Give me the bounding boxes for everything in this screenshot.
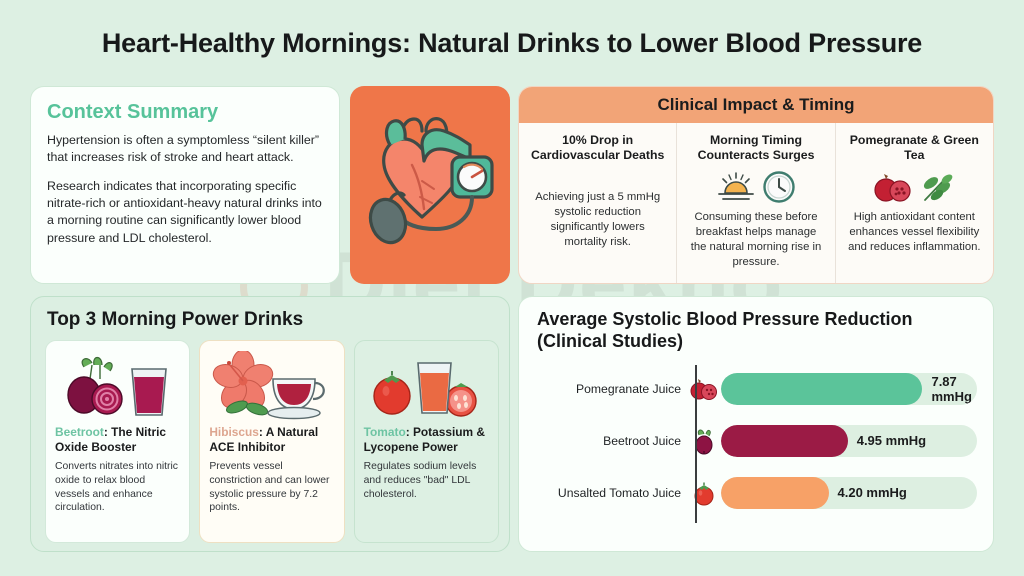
chart-bar-fill bbox=[721, 425, 848, 457]
clinical-impact-panel: Clinical Impact & Timing 10% Drop in Car… bbox=[518, 86, 994, 284]
drink-card-image bbox=[55, 349, 180, 423]
tomato-and-juice-glass-icon bbox=[365, 351, 487, 421]
context-paragraph-2: Research indicates that incorporating sp… bbox=[47, 178, 323, 246]
top-drinks-panel: Top 3 Morning Power Drinks bbox=[30, 296, 510, 552]
chart-title: Average Systolic Blood Pressure Reductio… bbox=[537, 309, 977, 353]
clinical-column-heading: Pomegranate & Green Tea bbox=[845, 133, 984, 164]
chart-category-label: Unsalted Tomato Juice bbox=[537, 486, 687, 501]
heart-illustration-card bbox=[350, 86, 510, 284]
drink-card-image bbox=[209, 349, 334, 423]
hibiscus-flower-and-teacup-icon bbox=[211, 351, 333, 421]
chart-category-label: Pomegranate Juice bbox=[537, 382, 687, 397]
chart-plot-area: Pomegranate Juice 7.87 mmHg Beetr bbox=[537, 359, 977, 539]
drink-card-body: Prevents vessel constriction and can low… bbox=[209, 460, 334, 515]
clinical-column-body: Consuming these before breakfast helps m… bbox=[686, 210, 825, 271]
chart-y-axis bbox=[695, 365, 697, 523]
drink-card-heading: Beetroot: The Nitric Oxide Booster bbox=[55, 425, 180, 455]
chart-bar-value: 7.87 mmHg bbox=[922, 373, 977, 405]
chart-bar-row: Unsalted Tomato Juice 4.20 mmHg bbox=[537, 467, 977, 519]
chart-category-icon bbox=[687, 376, 721, 402]
drink-card-beetroot[interactable]: Beetroot: The Nitric Oxide Booster Conve… bbox=[45, 340, 190, 543]
clinical-column-heading: Morning Timing Counteracts Surges bbox=[686, 133, 825, 164]
context-paragraph-1: Hypertension is often a symptomless “sil… bbox=[47, 132, 323, 166]
clinical-column-icons bbox=[716, 166, 796, 208]
chart-bar-track: 4.95 mmHg bbox=[721, 425, 977, 457]
chart-bar-value: 4.20 mmHg bbox=[829, 477, 907, 509]
context-summary-panel: Context Summary Hypertension is often a … bbox=[30, 86, 340, 284]
chart-bar-fill bbox=[721, 477, 829, 509]
chart-bar-row: Pomegranate Juice 7.87 mmHg bbox=[537, 363, 977, 415]
drink-card-body: Converts nitrates into nitric oxide to r… bbox=[55, 460, 180, 515]
chart-category-icon bbox=[687, 427, 721, 455]
clinical-column-body: Achieving just a 5 mmHg systolic reducti… bbox=[528, 190, 667, 251]
clinical-column-deaths: 10% Drop in Cardiovascular Deaths Achiev… bbox=[519, 123, 676, 284]
drink-card-hibiscus[interactable]: Hibiscus: A Natural ACE Inhibitor Preven… bbox=[199, 340, 344, 543]
clinical-column-heading: 10% Drop in Cardiovascular Deaths bbox=[528, 133, 667, 164]
chart-bar-fill bbox=[721, 373, 922, 405]
context-summary-title: Context Summary bbox=[47, 101, 323, 124]
beetroot-and-juice-glass-icon bbox=[58, 351, 178, 421]
chart-panel: Average Systolic Blood Pressure Reductio… bbox=[518, 296, 994, 552]
sunrise-icon bbox=[716, 170, 756, 204]
chart-category-label: Beetroot Juice bbox=[537, 434, 687, 449]
chart-category-icon bbox=[687, 480, 721, 506]
drink-card-body: Regulates sodium levels and reduces "bad… bbox=[364, 460, 489, 501]
clock-icon bbox=[762, 170, 796, 204]
infographic-canvas: Diet Dekho Heart-Healthy Mornings: Natur… bbox=[0, 0, 1024, 576]
clinical-column-antioxidants: Pomegranate & Green Tea bbox=[835, 123, 993, 284]
top-drinks-title: Top 3 Morning Power Drinks bbox=[47, 309, 499, 331]
drink-card-image bbox=[364, 349, 489, 423]
clinical-impact-title: Clinical Impact & Timing bbox=[519, 87, 993, 123]
page-title: Heart-Healthy Mornings: Natural Drinks t… bbox=[0, 28, 1024, 59]
drink-card-tomato[interactable]: Tomato: Potassium & Lycopene Power Regul… bbox=[354, 340, 499, 543]
chart-bar-row: Beetroot Juice 4.95 mmHg bbox=[537, 415, 977, 467]
chart-bar-track: 7.87 mmHg bbox=[721, 373, 977, 405]
chart-bar-value: 4.95 mmHg bbox=[848, 425, 926, 457]
drink-card-keyword: Tomato bbox=[364, 425, 406, 439]
chart-bar-track: 4.20 mmHg bbox=[721, 477, 977, 509]
drink-card-heading: Tomato: Potassium & Lycopene Power bbox=[364, 425, 489, 455]
drink-card-keyword: Beetroot bbox=[55, 425, 104, 439]
tea-leaf-icon bbox=[917, 170, 955, 204]
drink-card-heading: Hibiscus: A Natural ACE Inhibitor bbox=[209, 425, 334, 455]
clinical-column-icons bbox=[873, 166, 955, 208]
clinical-column-body: High antioxidant content enhances vessel… bbox=[845, 210, 984, 255]
heart-with-blood-pressure-cuff-icon bbox=[360, 105, 500, 265]
drink-card-keyword: Hibiscus bbox=[209, 425, 259, 439]
pomegranate-icon bbox=[873, 170, 911, 204]
clinical-column-timing: Morning Timing Counteracts Surges bbox=[676, 123, 834, 284]
